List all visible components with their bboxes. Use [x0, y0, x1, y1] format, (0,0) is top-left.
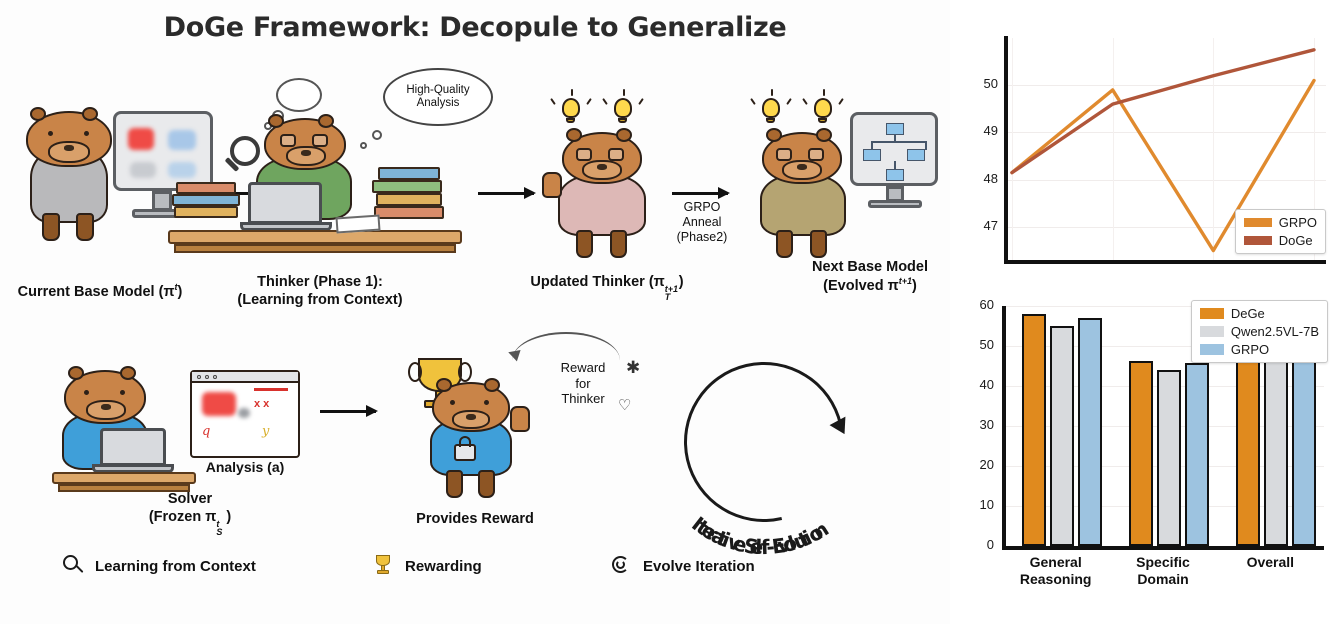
caption-current-base-model: Current Base Model (πt) [0, 282, 200, 301]
gridline [1004, 132, 1326, 133]
book-stack-right-3 [372, 180, 442, 193]
y-axis-tick-label: 47 [964, 218, 998, 233]
bar-grpo-0[interactable] [1078, 318, 1102, 546]
label-line-3: (Phase2) [664, 230, 740, 245]
book-stack-left-1 [174, 206, 238, 218]
label-line-1: GRPO [664, 200, 740, 215]
updated-thinker-leg-left [576, 230, 593, 258]
bar-dege-2[interactable] [1236, 345, 1260, 546]
thinker-ear-left [268, 114, 284, 128]
legend-row[interactable]: DeGe [1200, 306, 1319, 321]
analysis-y-label: y [262, 424, 269, 439]
bubble-line-2: Analysis [406, 97, 469, 110]
capybara-leg-right [76, 213, 94, 241]
capybara-ear-right [82, 107, 98, 121]
legend-color-swatch [1200, 308, 1224, 319]
trophy-handle-right [458, 362, 472, 382]
gridline [1012, 38, 1013, 260]
next-model-nose [797, 164, 807, 170]
category-label-line: Specific [1109, 554, 1216, 571]
y-axis-tick-label: 60 [960, 297, 994, 312]
capybara-eye-left [48, 131, 53, 136]
updated-thinker-glasses-left [576, 148, 592, 161]
legend-color-swatch [1244, 218, 1272, 227]
idea-ray-right-2 [623, 89, 625, 96]
caption-subscript: S [216, 527, 222, 538]
legend-label: GRPO [1279, 215, 1317, 230]
reward-ear-left [436, 378, 452, 392]
legend-row[interactable]: Qwen2.5VL-7B [1200, 324, 1319, 339]
caption-next-base-model: Next Base Model (Evolved πt+1) [790, 258, 950, 295]
category-label-line: General [1002, 554, 1109, 571]
book-stack-right-4 [378, 167, 440, 180]
line-chart-x-axis [1004, 260, 1326, 264]
flowchart-link-2 [894, 135, 896, 142]
idea-ray-left-3 [586, 98, 592, 105]
legend-row[interactable]: DoGe [1244, 233, 1317, 248]
bubble-tail-dot-2 [360, 142, 367, 149]
caption-superscript: t+1 [899, 276, 912, 286]
next-bulb-left [762, 98, 780, 118]
analysis-label-text: Analysis (a) [206, 459, 285, 475]
line-chart: 47484950 GRPODoGe [958, 28, 1330, 290]
thinker-ear-right [318, 114, 334, 128]
flowchart-monitor-icon [850, 112, 938, 186]
legend-label: Learning from Context [95, 558, 256, 575]
grpo-anneal-label: GRPO Anneal (Phase2) [664, 200, 740, 245]
category-label: GeneralReasoning [1002, 554, 1109, 588]
next-bulb-right-base [818, 118, 827, 123]
solver-ear-left [68, 366, 84, 380]
analysis-blob-red [202, 392, 236, 416]
caption-line-2: (Learning from Context) [195, 291, 445, 309]
capybara-leg-left [42, 213, 60, 241]
book-stack-left-2 [172, 194, 240, 206]
sparkle-icon: ✱ [626, 358, 640, 378]
caption-line-2: (Frozen πtS) [120, 508, 260, 526]
caption-line-1: Next Base Model [790, 258, 950, 276]
caption-thinker: Thinker (Phase 1): (Learning from Contex… [195, 273, 445, 309]
next-ray-right-1 [802, 98, 808, 105]
book-stack-left-3 [176, 182, 236, 194]
updated-thinker-glasses-right [608, 148, 624, 161]
idea-ray-left-2 [571, 89, 573, 96]
solver-eye-left [84, 390, 89, 395]
legend-label: Qwen2.5VL-7B [1231, 324, 1319, 339]
caption-solver: Solver (Frozen πtS) [120, 490, 260, 526]
line-chart-y-axis [1004, 36, 1008, 262]
y-axis-tick-label: 49 [964, 123, 998, 138]
next-model-ear-left [766, 128, 782, 142]
gridline [1113, 38, 1114, 260]
legend-item-rewarding: Rewarding [372, 554, 482, 578]
next-model-leg-right [810, 230, 827, 258]
updated-thinker-ear-right [616, 128, 632, 142]
analysis-q-label: q [202, 424, 210, 439]
analysis-x-marks: x x [254, 398, 269, 410]
thumbs-up-icon [542, 172, 562, 198]
updated-thinker-snout [582, 160, 622, 180]
trophy-handle-left [408, 362, 422, 382]
capybara-eye-right [84, 131, 89, 136]
magnifier-icon [230, 136, 260, 166]
caption-tail: ) [226, 509, 231, 525]
desk-surface [168, 230, 462, 244]
next-model-leg-left [776, 230, 793, 258]
reward-curved-arrow [512, 332, 620, 366]
flowchart-link-3 [871, 141, 873, 150]
capybara-nose [64, 145, 74, 151]
caption-line-2: (Evolved πt+1) [790, 276, 950, 295]
desk-edge [174, 244, 456, 253]
provides-reward-illustration [390, 348, 560, 508]
iterative-self-evolution-label: Iterative Self-Evolution [684, 362, 884, 562]
flowchart-link-4 [925, 141, 927, 150]
capybara-ear-left [30, 107, 46, 121]
analysis-window-caption: Analysis (a) [190, 459, 300, 475]
high-quality-analysis-bubble: High-Quality Analysis [383, 68, 493, 126]
flowchart-link-5 [894, 161, 896, 170]
lock-shackle [459, 436, 471, 447]
flowchart-node-bottom [886, 169, 904, 181]
gridline [1213, 38, 1214, 260]
legend-label: DeGe [1231, 306, 1265, 321]
legend-row[interactable]: GRPO [1200, 342, 1319, 357]
reward-eye-right [484, 400, 489, 405]
reward-leg-right [478, 470, 495, 498]
idea-ray-right-3 [638, 98, 644, 105]
framework-diagram-panel: DoGe Framework: Decopule to Generalize [0, 0, 950, 624]
caption-text: Updated Thinker (π [530, 274, 664, 290]
caption-line-1: Provides Reward [390, 510, 560, 528]
idea-bulb-left [562, 98, 580, 118]
category-label: SpecificDomain [1109, 554, 1216, 588]
caption-tail: ) [679, 274, 684, 290]
solver-illustration: x x q y Analysis (a) [30, 352, 300, 502]
next-ray-right-2 [823, 89, 825, 96]
analysis-window: x x q y [190, 370, 300, 458]
solver-nose [101, 404, 111, 410]
category-label-line: Reasoning [1002, 571, 1109, 588]
thinker-nose [301, 150, 311, 156]
idea-bulb-right-base [618, 118, 627, 123]
gridline [1004, 85, 1326, 86]
legend-item-evolve-iteration: Evolve Iteration [610, 554, 755, 578]
y-axis-tick-label: 50 [964, 76, 998, 91]
screen-blob-red [128, 128, 154, 150]
magnifier-icon [62, 554, 84, 578]
idea-bulb-left-base [566, 118, 575, 123]
caption-line-1: Thinker (Phase 1): [195, 273, 445, 291]
reward-eye-left [450, 400, 455, 405]
y-axis-tick-label: 0 [960, 537, 994, 552]
bar-chart: 0102030405060 GeneralReasoningSpecificDo… [958, 300, 1330, 612]
category-label: Overall [1217, 554, 1324, 571]
reward-ear-right [484, 378, 500, 392]
page-title: DoGe Framework: Decopule to Generalize [0, 12, 950, 43]
next-bulb-left-base [766, 118, 775, 123]
caption-text: (Evolved π [823, 278, 899, 294]
legend-row[interactable]: GRPO [1244, 215, 1317, 230]
solver-desk-surface [52, 472, 196, 484]
solver-eye-right [120, 390, 125, 395]
next-ray-left-2 [771, 89, 773, 96]
paper-sheet [335, 214, 380, 233]
next-bulb-right [814, 98, 832, 118]
screen-blob-grey [130, 162, 156, 178]
bubble-tail-dot-1 [372, 130, 382, 140]
label-line-3: Thinker [548, 391, 618, 407]
caption-subscript: T [665, 292, 671, 303]
legend-item-learning-from-context: Learning from Context [62, 554, 256, 578]
reward-leg-left [446, 470, 463, 498]
line-chart-legend: GRPODoGe [1235, 209, 1326, 254]
flowchart-node-mid-right [907, 149, 925, 161]
book-stack-right-1 [374, 206, 444, 219]
y-axis-tick-label: 10 [960, 497, 994, 512]
bar-grpo-1[interactable] [1185, 363, 1209, 546]
bubble-line-1: High-Quality [406, 84, 469, 97]
legend-label: Rewarding [405, 558, 482, 575]
category-label-line: Domain [1109, 571, 1216, 588]
next-model-glasses-left [776, 148, 792, 161]
next-ray-left-3 [786, 98, 792, 105]
idea-ray-left-1 [550, 98, 556, 105]
caption-provides-reward: Provides Reward [390, 510, 560, 528]
legend-label: DoGe [1279, 233, 1313, 248]
caption-updated-thinker: Updated Thinker (πt+1T) [487, 273, 727, 291]
flowchart-link-1 [872, 141, 926, 143]
arrow-to-provides-reward [320, 410, 376, 413]
caption-tail: ) [178, 284, 183, 300]
caption-line-1: Solver [120, 490, 260, 508]
updated-thinker-illustration [540, 88, 670, 266]
analysis-red-lines [254, 388, 288, 391]
next-ray-right-3 [838, 98, 844, 105]
window-dot-2 [205, 375, 209, 379]
label-line-2: for [548, 376, 618, 392]
legend-color-swatch [1244, 236, 1272, 245]
trophy-icon [372, 554, 394, 578]
y-axis-tick-label: 40 [960, 377, 994, 392]
solver-snout [86, 400, 126, 420]
solver-ear-right [120, 366, 136, 380]
thinker-glasses-right [312, 134, 328, 147]
arrow-to-next-base-model [672, 192, 728, 195]
thought-cloud [276, 78, 322, 112]
idea-bulb-right [614, 98, 632, 118]
bar-dege-1[interactable] [1129, 361, 1153, 546]
window-dot-1 [197, 375, 201, 379]
reward-thumbs-up-icon [510, 406, 530, 432]
bar-qwen2-5vl-7b-2[interactable] [1264, 354, 1288, 546]
next-base-model-illustration [740, 88, 940, 266]
bar-grpo-2[interactable] [1292, 346, 1316, 546]
arrow-to-updated-thinker [478, 192, 534, 195]
legend-label: GRPO [1231, 342, 1269, 357]
thinker-snout [286, 146, 326, 166]
y-axis-tick-label: 50 [960, 337, 994, 352]
analysis-blob-grey [238, 408, 250, 418]
bar-chart-legend: DeGeQwen2.5VL-7BGRPO [1191, 300, 1328, 363]
evolve-iteration-icon [610, 554, 632, 578]
bar-qwen2-5vl-7b-1[interactable] [1157, 370, 1181, 546]
next-model-snout [782, 160, 822, 180]
reward-for-thinker-label: Reward for Thinker [548, 360, 618, 407]
solver-laptop-screen [100, 428, 166, 466]
window-dot-3 [213, 375, 217, 379]
heart-icon: ♡ [618, 396, 631, 414]
reward-nose [466, 414, 476, 420]
updated-thinker-nose [597, 164, 607, 170]
y-axis-tick-label: 30 [960, 417, 994, 432]
label-line-2: Anneal [664, 215, 740, 230]
next-model-ear-right [816, 128, 832, 142]
next-model-glasses-right [808, 148, 824, 161]
legend-label: Evolve Iteration [643, 558, 755, 575]
idea-ray-right-1 [602, 98, 608, 105]
next-monitor-foot [868, 200, 922, 208]
bar-dege-0[interactable] [1022, 314, 1046, 546]
gridline [1004, 180, 1326, 181]
caption-text: (Frozen π [149, 509, 217, 525]
updated-thinker-ear-left [566, 128, 582, 142]
diagram-legend: Learning from Context Rewarding Evolve I… [0, 552, 950, 592]
updated-thinker-leg-right [610, 230, 627, 258]
flowchart-node-top [886, 123, 904, 135]
next-ray-left-1 [750, 98, 756, 105]
category-label-line: Overall [1217, 554, 1324, 571]
laptop-screen [248, 182, 322, 224]
caption-text: Current Base Model (π [18, 284, 175, 300]
bar-chart-x-axis [1002, 546, 1324, 550]
y-axis-tick-label: 20 [960, 457, 994, 472]
book-stack-right-2 [376, 193, 442, 206]
caption-tail: ) [912, 278, 917, 294]
flowchart-node-mid-left [863, 149, 881, 161]
y-axis-tick-label: 48 [964, 171, 998, 186]
legend-color-swatch [1200, 344, 1224, 355]
bar-qwen2-5vl-7b-0[interactable] [1050, 326, 1074, 546]
legend-color-swatch [1200, 326, 1224, 337]
thinker-glasses-left [280, 134, 296, 147]
line-series-doge [1012, 50, 1314, 173]
